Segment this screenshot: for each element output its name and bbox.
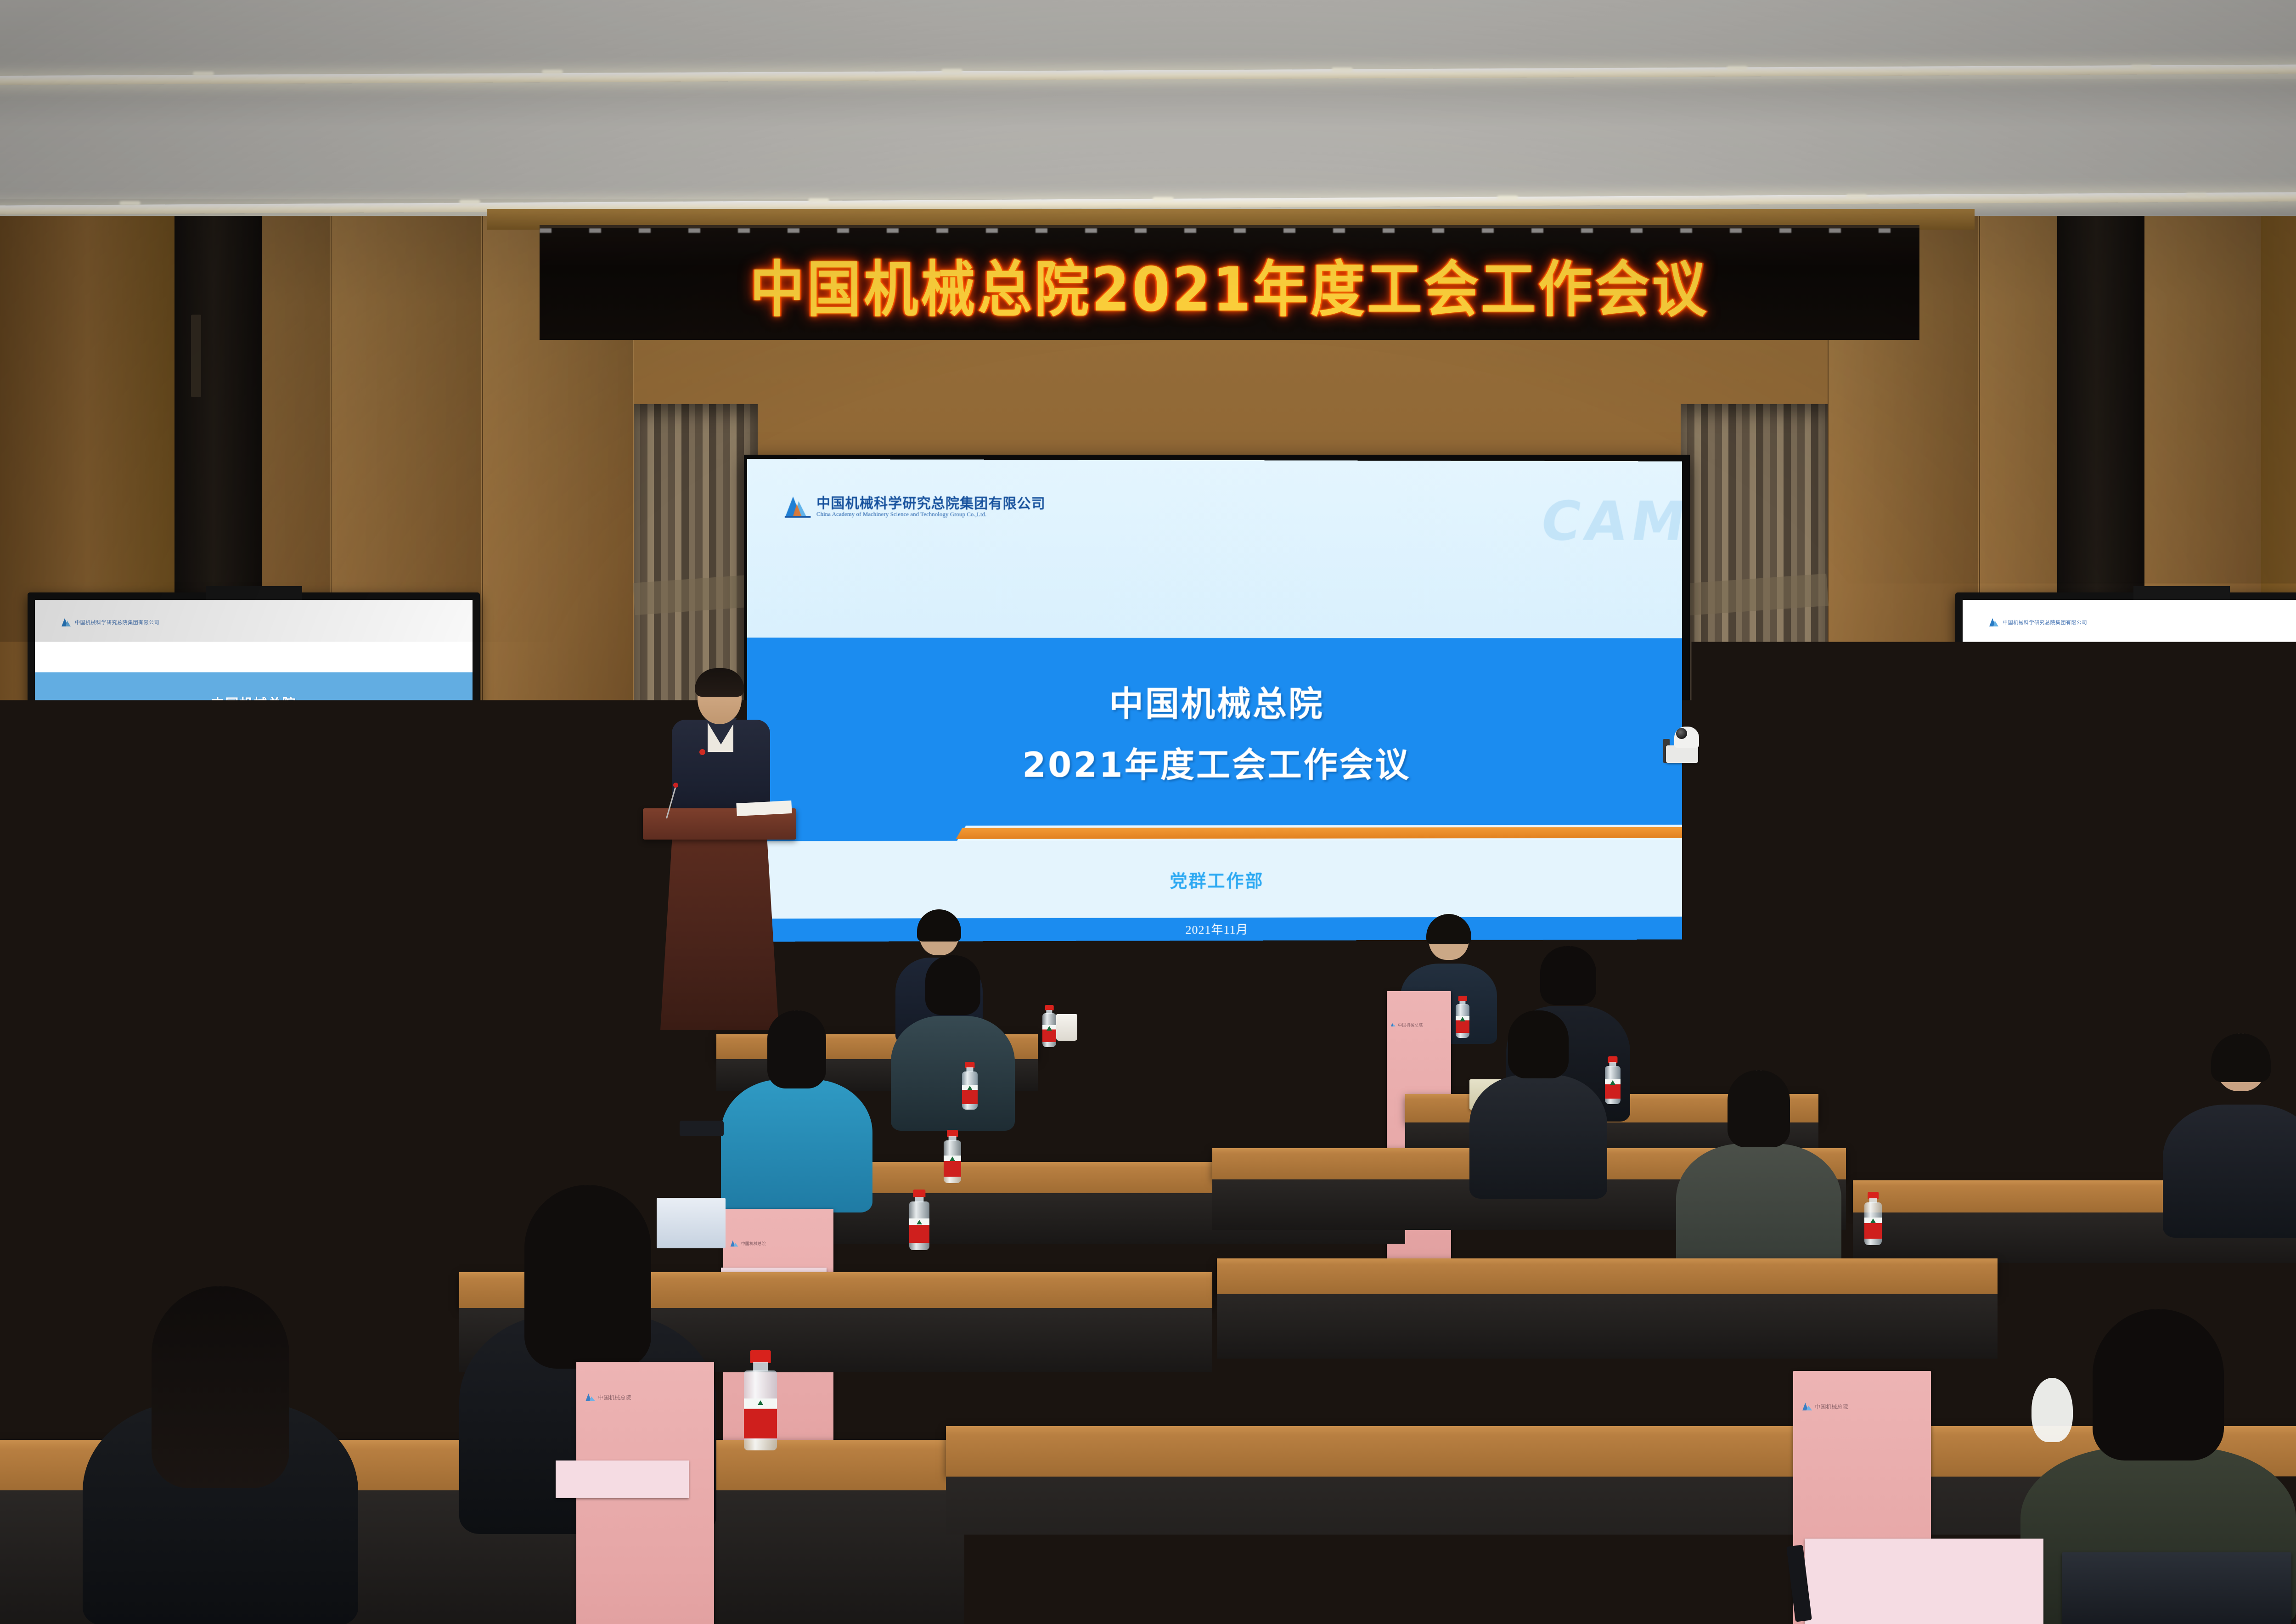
main-projection-screen: CAM 中国机械科学研究总院集团有限公司 China Academy of Ma… [744,455,1690,946]
wall-slot-left [191,315,201,397]
side-monitor-left: 中国机械科学研究总院集团有限公司 中国机械总院 2021年度工会工作会议 党群工… [28,592,480,850]
water-bottle [909,1190,929,1250]
company-logo: 中国机械科学研究总院集团有限公司 China Academy of Machin… [785,495,1045,519]
monitor-right-logo-text: 中国机械科学研究总院集团有限公司 [2003,619,2087,626]
speaker-at-podium [668,668,774,820]
cam-watermark: CAM [1536,489,1682,553]
led-banner-text: 中国机械总院2021年度工会工作会议 [750,240,1709,328]
conference-room-photo: 中国机械总院2021年度工会工作会议 CAM 中国机械科学研究总院集团有限 [0,0,2296,1624]
monitor-right-title-2: 2021年度工会工作会议 [2104,715,2259,734]
podium [658,808,782,1029]
slide-body: 党群工作部 [747,840,1682,919]
microphone-head-icon [673,783,678,788]
attendee-row3-a [1469,1010,1607,1194]
placard-logo: 中国机械总院 [1801,1402,1931,1411]
placard-logo: 中国机械总院 [730,1240,833,1247]
cam-triangle-logo-icon [76,1142,83,1148]
cam-triangle-logo-icon [1390,1022,1396,1027]
slide-title-band: 中国机械总院 2021年度工会工作会议 [747,637,1682,826]
placard-org-label: 中国机械总院 [741,1241,766,1246]
placard-logo: 中国机械总院 [1390,1022,1451,1028]
slide-header: CAM 中国机械科学研究总院集团有限公司 China Academy of Ma… [747,459,1682,638]
cam-triangle-logo-icon [785,495,810,519]
monitor-left-date: 2021年11月 [241,830,266,837]
tea-cup [2140,1017,2162,1043]
water-bottle [1864,1192,1882,1245]
monitor-left-title-1: 中国机械总院 [211,693,296,712]
monitor-right-title-1: 中国机械总院 [2138,693,2224,712]
accent-orange-shape [956,827,1682,839]
ceiling [0,0,2296,232]
monitor-left-title-2: 2021年度工会工作会议 [176,715,331,734]
document-folder [2062,1552,2291,1624]
water-bottle [962,1062,978,1110]
slide-date: 2021年11月 [1185,920,1248,937]
slide-title-line-1: 中国机械总院 [1109,677,1324,726]
smartphone [680,1121,724,1136]
monitor-right-date: 2021年11月 [2169,830,2194,837]
led-banner: 中国机械总院2021年度工会工作会议 [540,225,1919,340]
ceiling-soffit [0,79,2296,199]
water-bottle [1605,1056,1621,1104]
placard-org-label: 中国机械总院 [1398,1022,1423,1028]
curtain-tieback-right [1680,574,1829,616]
water-bottle [1456,996,1469,1038]
company-name-en: China Academy of Machinery Science and T… [816,511,1046,518]
cam-triangle-logo-icon [585,1393,596,1402]
slide-accent-stripe [747,825,1682,841]
side-monitor-right-slide: 中国机械科学研究总院集团有限公司 中国机械总院 2021年度工会工作会议 党群工… [1963,600,2296,842]
placard-logo: 中国机械总院 [76,1142,152,1148]
attendee-row2-c [891,955,1015,1130]
cam-triangle-logo-icon [1989,617,2000,627]
placard-org-label: 中国机械总院 [1815,1403,1848,1410]
side-monitor-left-slide: 中国机械科学研究总院集团有限公司 中国机械总院 2021年度工会工作会议 党群工… [35,600,473,842]
slide-footer: 2021年11月 [747,917,1682,942]
water-bottle [744,1350,777,1450]
attendee-row3-teal-sweater [721,1010,872,1208]
cam-triangle-logo-icon [1801,1402,1813,1411]
monitor-left-department: 党群工作部 [233,788,274,799]
tablet-device [285,1047,367,1089]
desk-row4-right [1217,1258,1998,1294]
slide-department: 党群工作部 [1170,866,1264,891]
presentation-slide: CAM 中国机械科学研究总院集团有限公司 China Academy of Ma… [747,459,1682,942]
lapel-pin [699,749,705,755]
placard-org-label: 中国机械总院 [84,1142,109,1148]
attendee-row3-c [2163,1033,2296,1235]
smartphone [367,1089,400,1101]
cam-triangle-logo-icon [61,617,72,627]
tea-cup [1056,1014,1077,1041]
water-bottle [1042,1005,1056,1047]
attendee-foreground-left [83,1286,358,1624]
meeting-agenda-sheet [1805,1539,2043,1624]
monitor-left-logo-text: 中国机械科学研究总院集团有限公司 [75,619,159,626]
cam-triangle-logo-icon [730,1240,739,1247]
placard-logo: 中国机械总院 [585,1393,714,1402]
company-name-cn: 中国机械科学研究总院集团有限公司 [816,496,1046,511]
water-bottle [944,1130,961,1183]
monitor-mount-right [2133,586,2230,600]
water-bottle [1957,1357,1990,1457]
handout-paper [556,1460,689,1498]
slide-title-line-2: 2021年度工会工作会议 [1022,738,1411,787]
water-bottle [138,1070,153,1118]
curtain-tieback-left [633,575,759,615]
water-bottle [2116,1040,2130,1082]
attendee-row3-workwear [1676,1070,1841,1277]
monitor-right-department: 党群工作部 [2161,788,2202,799]
backpack [179,1070,285,1134]
attendee-row2-e [1924,942,2048,1121]
monitor-mount-left [206,586,302,600]
placard-org-label: 中国机械总院 [598,1393,631,1401]
ptz-camera-icon [1666,719,1705,763]
side-monitor-right: 中国机械科学研究总院集团有限公司 中国机械总院 2021年度工会工作会议 党群工… [1955,592,2296,850]
water-bottle [501,1007,514,1049]
